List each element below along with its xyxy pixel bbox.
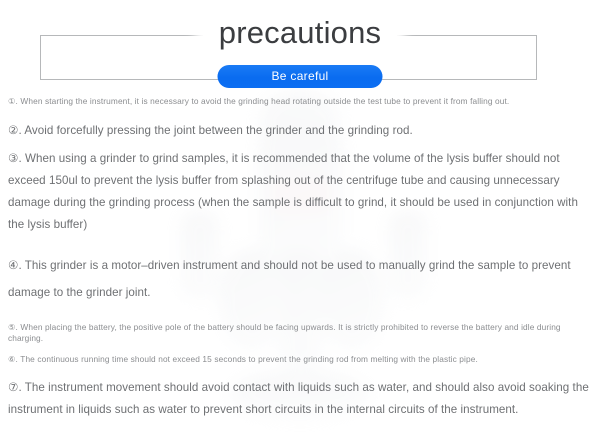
spacer [0,365,600,377]
spacer [0,108,600,120]
precaution-item-1: ①. When starting the instrument, it is n… [0,96,600,108]
spacer [0,345,600,354]
page-header: precautions Be careful [0,0,600,96]
page-title: precautions [0,14,600,52]
be-careful-badge[interactable]: Be careful [218,65,383,88]
precautions-page: precautions Be careful ①. When starting … [0,0,600,437]
precaution-item-2: ②. Avoid forcefully pressing the joint b… [0,120,600,142]
precaution-item-7: ⑦. The instrument movement should avoid … [0,377,600,421]
precaution-item-3: ③. When using a grinder to grind samples… [0,148,600,236]
spacer [0,236,600,252]
precaution-item-4: ④. This grinder is a motor–driven instru… [0,252,600,306]
precaution-item-6: ⑥. The continuous running time should no… [0,354,600,366]
precautions-list: ①. When starting the instrument, it is n… [0,96,600,421]
precaution-item-5: ⑤. When placing the battery, the positiv… [0,322,600,345]
page-title-text: precautions [203,15,397,50]
spacer [0,306,600,322]
